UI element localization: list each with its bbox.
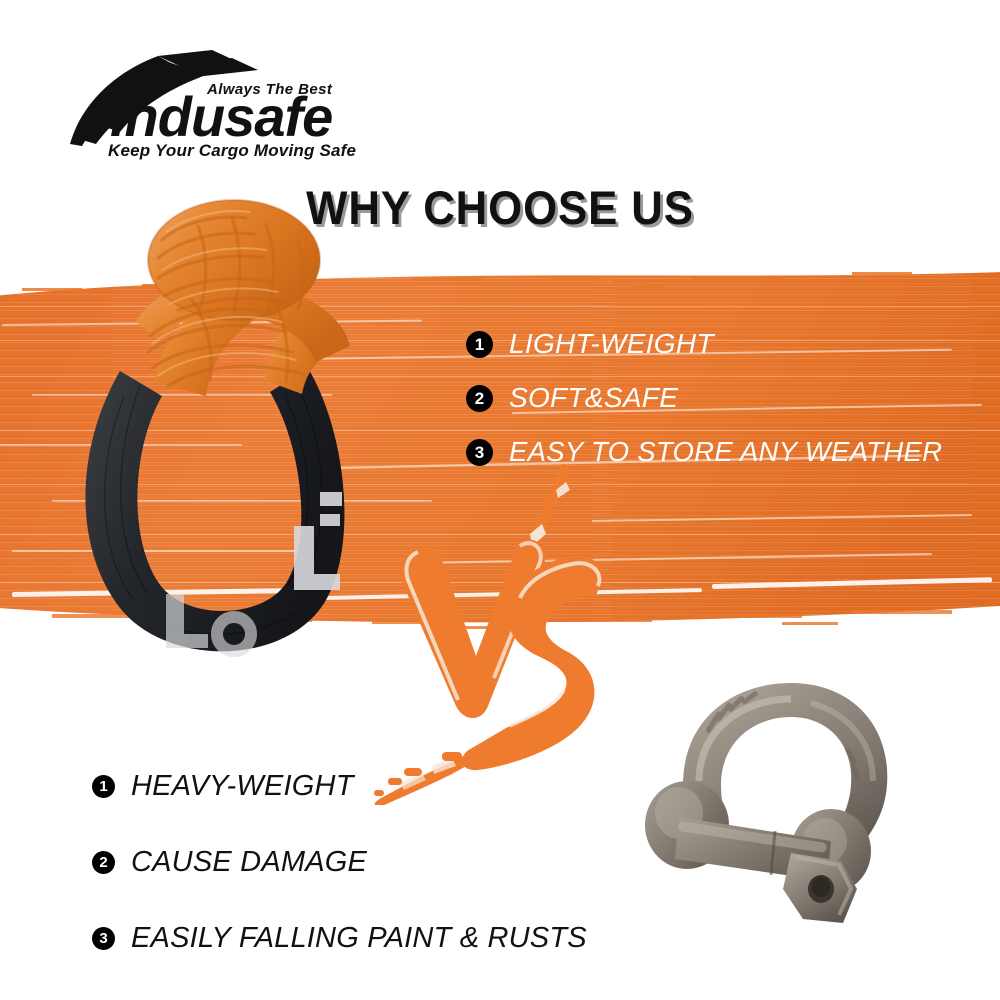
soft-shackle-product-image <box>58 196 388 666</box>
list-item: 2 CAUSE DAMAGE <box>92 824 652 900</box>
logo-wordmark: Indusafe <box>110 85 332 148</box>
list-item-label: LIGHT-WEIGHT <box>509 328 714 360</box>
pros-list: 1 LIGHT-WEIGHT 2 SOFT&SAFE 3 EASY TO STO… <box>466 318 966 480</box>
list-item: 1 LIGHT-WEIGHT <box>466 318 966 370</box>
shackle-sleeve <box>85 368 344 651</box>
logo-tagline-bottom: Keep Your Cargo Moving Safe <box>108 141 356 160</box>
cons-list: 1 HEAVY-WEIGHT 2 CAUSE DAMAGE 3 EASILY F… <box>92 748 652 976</box>
list-badge: 2 <box>466 385 493 412</box>
list-item-label: CAUSE DAMAGE <box>131 846 367 879</box>
list-badge: 3 <box>92 927 115 950</box>
list-item-label: HEAVY-WEIGHT <box>131 770 354 803</box>
list-item: 3 EASY TO STORE ANY WEATHER <box>466 426 966 478</box>
list-item: 3 EASILY FALLING PAINT & RUSTS <box>92 900 652 976</box>
brand-logo: Always The Best Indusafe Keep Your Cargo… <box>62 48 382 160</box>
list-item-label: EASILY FALLING PAINT & RUSTS <box>131 922 587 955</box>
marketing-banner: Always The Best Indusafe Keep Your Cargo… <box>0 0 1000 1000</box>
steel-shackle-product-image <box>635 675 975 965</box>
list-badge: 2 <box>92 851 115 874</box>
list-badge: 1 <box>92 775 115 798</box>
list-badge: 3 <box>466 439 493 466</box>
list-badge: 1 <box>466 331 493 358</box>
list-item: 1 HEAVY-WEIGHT <box>92 748 652 824</box>
list-item: 2 SOFT&SAFE <box>466 372 966 424</box>
list-item-label: SOFT&SAFE <box>509 382 678 414</box>
list-item-label: EASY TO STORE ANY WEATHER <box>509 436 942 468</box>
